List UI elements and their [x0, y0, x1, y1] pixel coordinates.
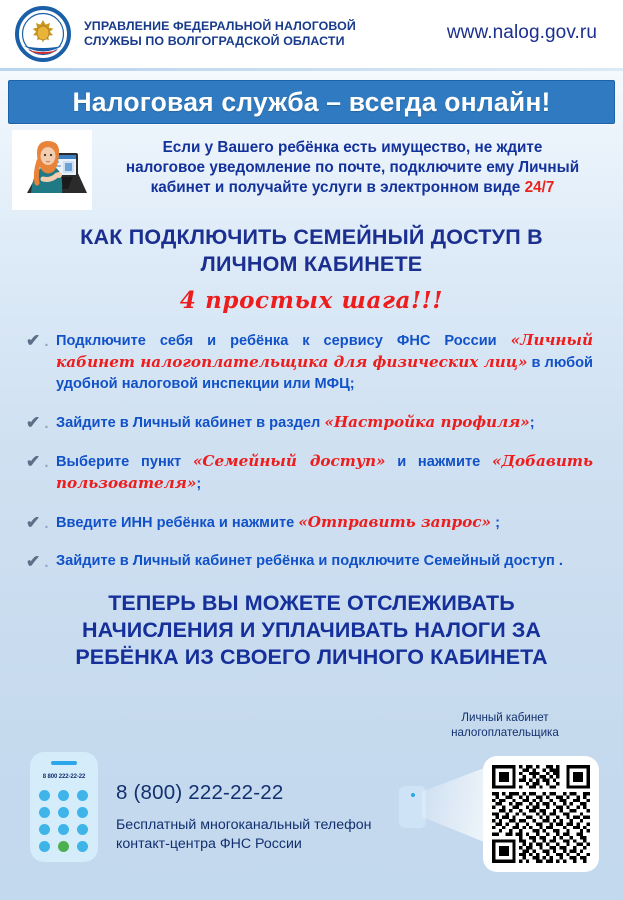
intro-text: Если у Вашего ребёнка есть имущество, не…	[92, 130, 609, 198]
header-divider	[0, 68, 623, 71]
woman-with-laptop-illustration	[12, 130, 92, 210]
keypad-dot	[39, 807, 50, 818]
keypad-dot	[39, 841, 50, 852]
mobile-phone-icon: 8 800 222-22-22	[30, 752, 98, 862]
step-text: Выберите пункт «Семейный доступ» и нажми…	[56, 451, 593, 495]
step-3-accent-1: «Семейный доступ»	[193, 452, 386, 470]
phone-caption: Бесплатный многоканальный телефон контак…	[116, 816, 372, 854]
page-footer: 8 800 222-22-22 8 (800) 222-	[0, 730, 623, 900]
phone-caption-line-1: Бесплатный многоканальный телефон	[116, 816, 372, 835]
organization-line-1: УПРАВЛЕНИЕ ФЕДЕРАЛЬНОЙ НАЛОГОВОЙ	[84, 19, 356, 34]
step-2-part-2: ;	[530, 415, 535, 431]
qr-caption: Личный кабинет налогоплательщика	[417, 710, 593, 740]
list-item: ✔ . Зайдите в Личный кабинет ребёнка и п…	[26, 551, 593, 573]
main-heading-line-1: КАК ПОДКЛЮЧИТЬ СЕМЕЙНЫЙ ДОСТУП В	[36, 224, 587, 251]
checkmark-icon: ✔ .	[26, 330, 56, 352]
poster-root: УПРАВЛЕНИЕ ФЕДЕРАЛЬНОЙ НАЛОГОВОЙ СЛУЖБЫ …	[0, 0, 623, 900]
contact-phone-block: 8 800 222-22-22 8 (800) 222-	[30, 752, 372, 862]
qr-caption-line-2: налогоплательщика	[417, 725, 593, 740]
checkmark-icon: ✔ .	[26, 412, 56, 434]
step-text: Зайдите в Личный кабинет ребёнка и подкл…	[56, 551, 593, 572]
checkmark-glyph: ✔	[26, 513, 40, 532]
phone-number[interactable]: 8 (800) 222-22-22	[116, 781, 372, 805]
organization-line-2: СЛУЖБЫ ПО ВОЛГОГРАДСКОЙ ОБЛАСТИ	[84, 34, 356, 49]
phone-caption-line-2: контакт-центра ФНС России	[116, 835, 372, 854]
intro-line-1: Если у Вашего ребёнка есть имущество, не…	[163, 139, 543, 156]
keypad-dot	[58, 824, 69, 835]
conclusion-line-2: НАЧИСЛЕНИЯ И УПЛАЧИВАТЬ НАЛОГИ ЗА	[26, 617, 597, 644]
step-1-part-1: Подключите себя и ребёнка к сервису ФНС …	[56, 333, 511, 349]
checkmark-glyph: ✔	[26, 452, 40, 471]
keypad-dot	[39, 824, 50, 835]
phone-keypad	[39, 790, 89, 852]
step-3-part-2: и нажмите	[385, 454, 491, 470]
page-header: УПРАВЛЕНИЕ ФЕДЕРАЛЬНОЙ НАЛОГОВОЙ СЛУЖБЫ …	[0, 0, 623, 68]
phone-text-block: 8 (800) 222-22-22 Бесплатный многоканаль…	[116, 781, 372, 862]
intro-line-3: кабинет и получайте услуги в электронном…	[151, 179, 521, 196]
checkmark-icon: ✔ .	[26, 512, 56, 534]
organization-name: УПРАВЛЕНИЕ ФЕДЕРАЛЬНОЙ НАЛОГОВОЙ СЛУЖБЫ …	[84, 19, 356, 49]
bullet-dot-icon: .	[40, 415, 48, 432]
qr-caption-line-1: Личный кабинет	[417, 710, 593, 725]
phone-speaker-bar	[51, 761, 77, 765]
main-heading-subtitle: 4 простых шага!!!	[0, 287, 623, 314]
fns-russia-emblem-icon	[14, 5, 72, 63]
step-text: Подключите себя и ребёнка к сервису ФНС …	[56, 330, 593, 395]
scanning-phone-icon	[399, 786, 426, 828]
conclusion-heading: ТЕПЕРЬ ВЫ МОЖЕТЕ ОТСЛЕЖИВАТЬ НАЧИСЛЕНИЯ …	[0, 590, 623, 671]
list-item: ✔ . Введите ИНН ребёнка и нажмите «Отпра…	[26, 512, 593, 534]
list-item: ✔ . Зайдите в Личный кабинет в раздел «Н…	[26, 412, 593, 434]
main-heading-line-2: ЛИЧНОМ КАБИНЕТЕ	[36, 251, 587, 278]
conclusion-line-1: ТЕПЕРЬ ВЫ МОЖЕТЕ ОТСЛЕЖИВАТЬ	[26, 590, 597, 617]
step-text: Зайдите в Личный кабинет в раздел «Настр…	[56, 412, 593, 434]
qr-code-block: Личный кабинет налогоплательщика	[389, 732, 599, 872]
checkmark-glyph: ✔	[26, 413, 40, 432]
bullet-dot-icon: .	[40, 515, 48, 532]
keypad-dot	[77, 807, 88, 818]
step-text: Введите ИНН ребёнка и нажмите «Отправить…	[56, 512, 593, 534]
checkmark-icon: ✔ .	[26, 451, 56, 473]
step-5-part-1: Зайдите в Личный кабинет ребёнка и подкл…	[56, 553, 563, 569]
bullet-dot-icon: .	[40, 454, 48, 471]
keypad-dot	[58, 790, 69, 801]
step-3-part-3: ;	[196, 476, 201, 492]
checkmark-icon: ✔ .	[26, 551, 56, 573]
scan-beam-graphic	[422, 768, 484, 842]
step-4-accent-1: «Отправить запрос»	[298, 513, 491, 531]
steps-list: ✔ . Подключите себя и ребёнка к сервису …	[0, 330, 623, 573]
step-2-part-1: Зайдите в Личный кабинет в раздел	[56, 415, 324, 431]
intro-highlight: 24/7	[525, 179, 555, 196]
keypad-dot	[77, 824, 88, 835]
checkmark-glyph: ✔	[26, 552, 40, 571]
intro-line-2: налоговое уведомление по почте, подключи…	[126, 159, 579, 176]
keypad-dot	[39, 790, 50, 801]
bullet-dot-icon: .	[40, 333, 48, 350]
conclusion-line-3: РЕБЁНКА ИЗ СВОЕГО ЛИЧНОГО КАБИНЕТА	[26, 644, 597, 671]
qr-code-card[interactable]	[483, 756, 599, 872]
main-heading: КАК ПОДКЛЮЧИТЬ СЕМЕЙНЫЙ ДОСТУП В ЛИЧНОМ …	[0, 224, 623, 278]
website-url[interactable]: www.nalog.gov.ru	[447, 22, 597, 44]
keypad-call-dot	[58, 841, 69, 852]
intro-section: Если у Вашего ребёнка есть имущество, не…	[0, 130, 623, 210]
keypad-dot	[77, 790, 88, 801]
phone-icon-label: 8 800 222-22-22	[30, 774, 98, 780]
step-2-accent-1: «Настройка профиля»	[324, 413, 529, 431]
keypad-dot	[58, 807, 69, 818]
slogan-text: Налоговая служба – всегда онлайн!	[72, 87, 550, 118]
step-4-part-2: ;	[491, 515, 500, 531]
phone-camera-lens-icon	[411, 793, 415, 797]
bullet-dot-icon: .	[40, 554, 48, 571]
step-3-part-1: Выберите пункт	[56, 454, 193, 470]
step-4-part-1: Введите ИНН ребёнка и нажмите	[56, 515, 298, 531]
list-item: ✔ . Подключите себя и ребёнка к сервису …	[26, 330, 593, 395]
keypad-dot	[77, 841, 88, 852]
checkmark-glyph: ✔	[26, 331, 40, 350]
list-item: ✔ . Выберите пункт «Семейный доступ» и н…	[26, 451, 593, 495]
slogan-banner: Налоговая служба – всегда онлайн!	[8, 80, 615, 124]
qr-code-icon	[492, 765, 590, 863]
